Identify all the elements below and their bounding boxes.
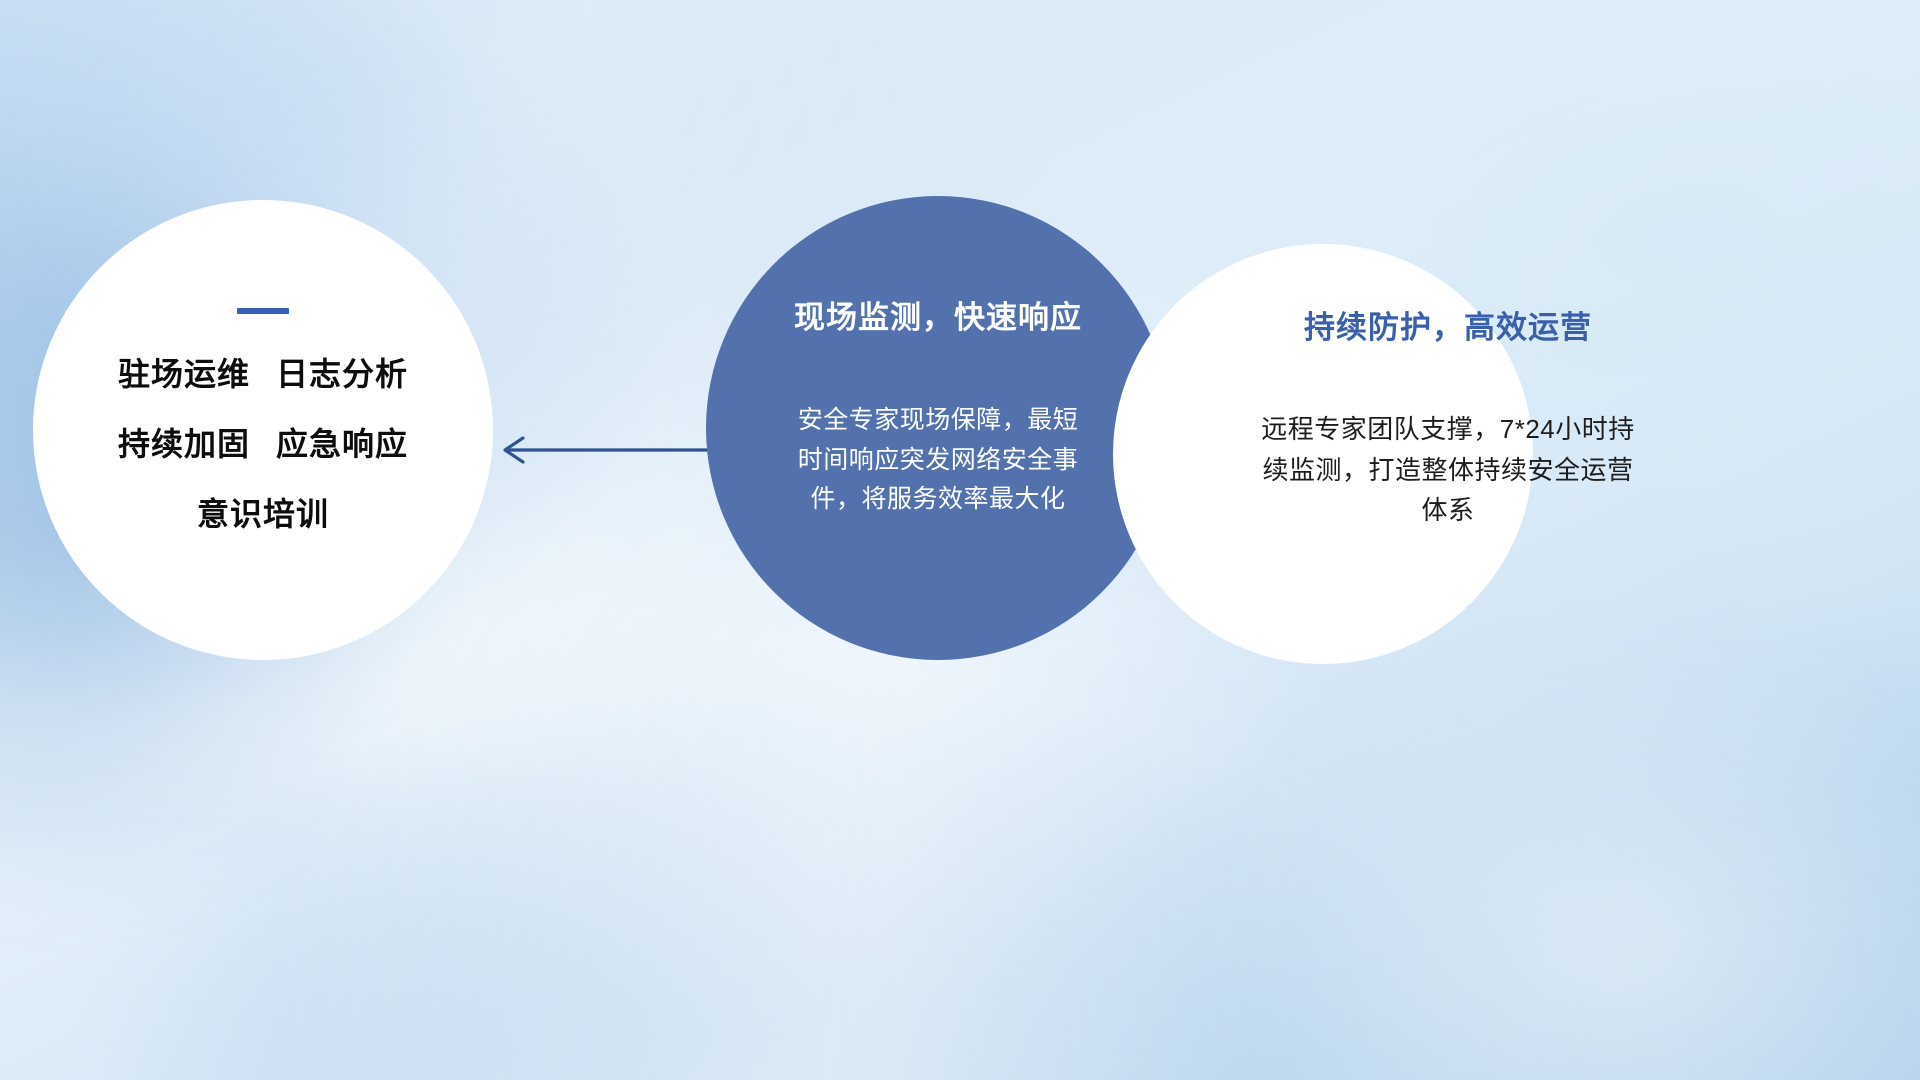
continuous-protection-content: 持续防护，高效运营 远程专家团队支撑，7*24小时持续监测，打造整体持续安全运营… (1073, 302, 1573, 531)
onsite-monitoring-title: 现场监测，快速响应 (794, 292, 1082, 337)
arrow-left-icon (495, 420, 725, 480)
capability-label-emergency-response: 应急响应 (276, 426, 408, 462)
capability-label-awareness-training: 意识培训 (197, 496, 329, 532)
capability-label-continuous-hardening: 持续加固 (118, 426, 250, 462)
capability-row-2: 持续加固应急响应 (118, 428, 408, 460)
divider-dash (237, 308, 289, 314)
background-glow-bottom-right (1190, 626, 1920, 1080)
continuous-protection-body: 远程专家团队支撑，7*24小时持续监测，打造整体持续安全运营体系 (1258, 409, 1638, 531)
slide-canvas: 驻场运维日志分析 持续加固应急响应 意识培训 现场监测，快速响应 安全专家现场保… (0, 0, 1920, 1080)
capability-label-log-analysis: 日志分析 (276, 356, 408, 392)
left-capability-circle: 驻场运维日志分析 持续加固应急响应 意识培训 (33, 200, 493, 660)
continuous-protection-circle: 持续防护，高效运营 远程专家团队支撑，7*24小时持续监测，打造整体持续安全运营… (1113, 244, 1533, 664)
capability-row-1: 驻场运维日志分析 (118, 358, 408, 390)
capability-label-onsite-ops: 驻场运维 (118, 356, 250, 392)
onsite-monitoring-body: 安全专家现场保障，最短时间响应突发网络安全事件，将服务效率最大化 (788, 401, 1088, 520)
continuous-protection-title: 持续防护，高效运营 (1304, 302, 1592, 347)
capability-row-3: 意识培训 (197, 498, 329, 530)
